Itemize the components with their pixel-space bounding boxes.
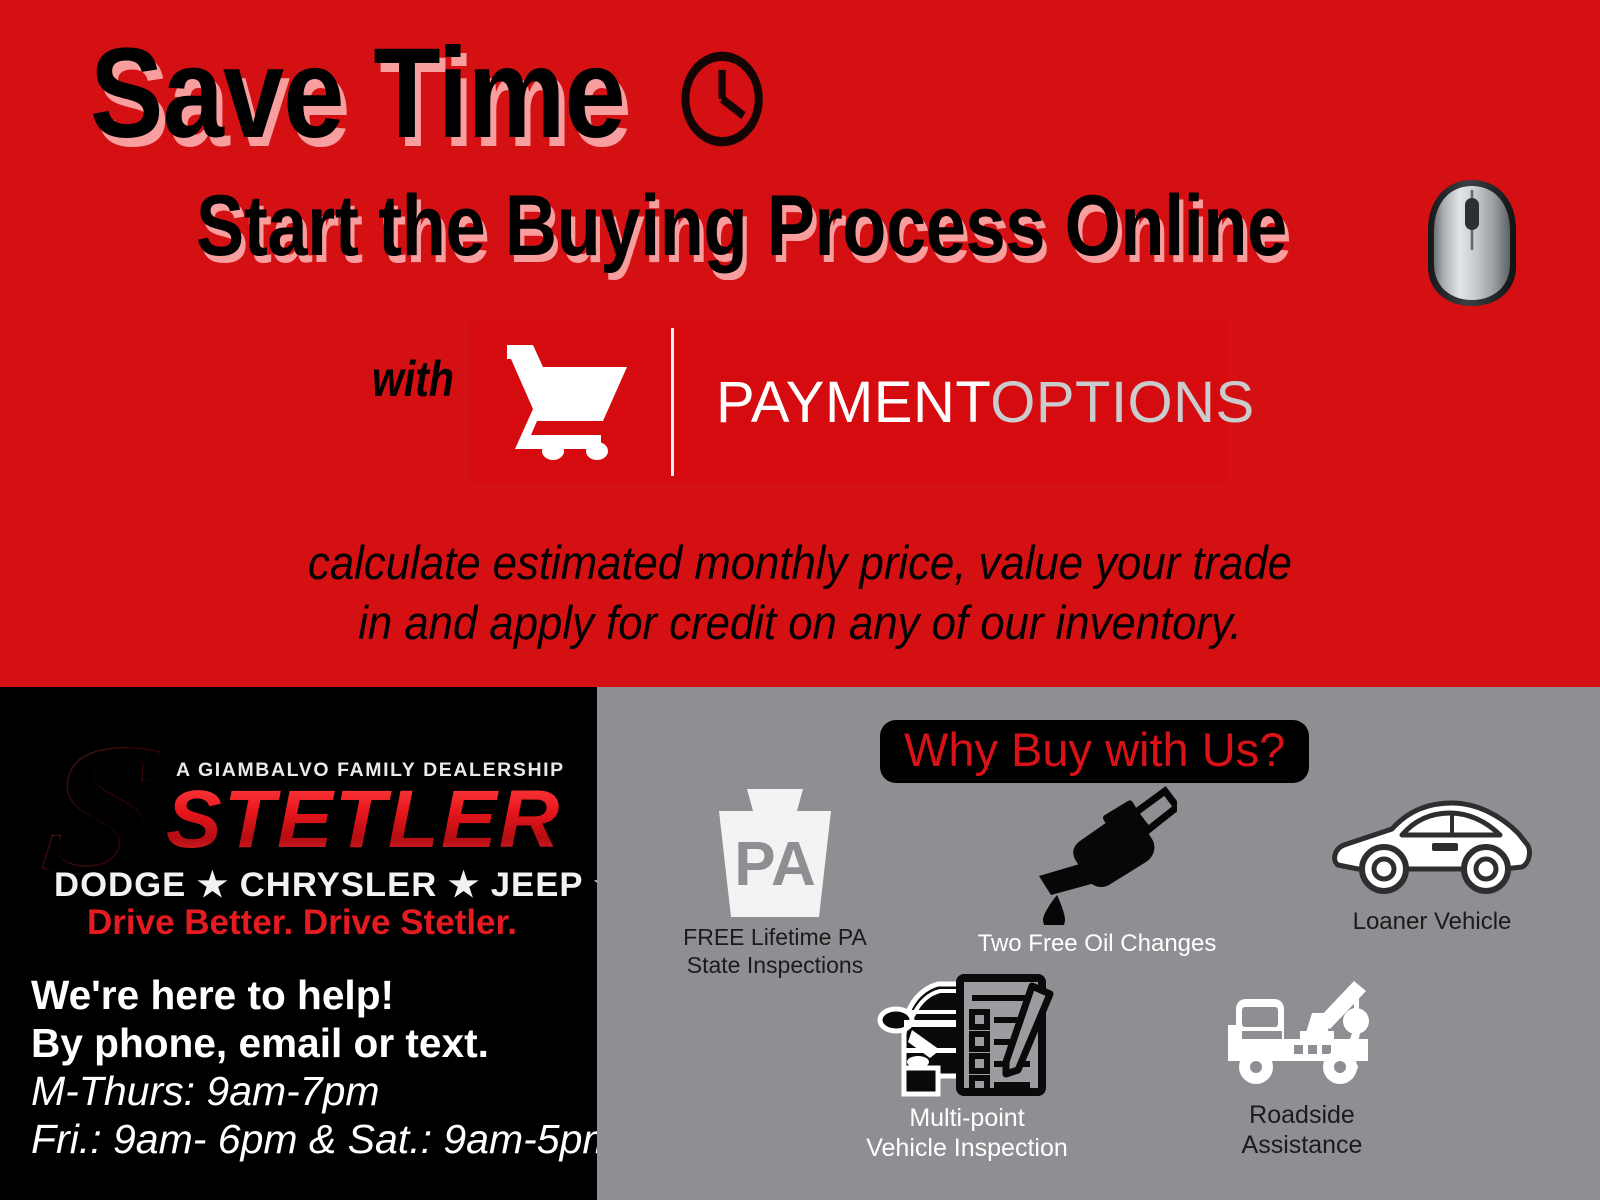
car-side-icon [1287, 787, 1577, 908]
dealership-name: STETLER [166, 779, 561, 861]
feature-label-line-1: Loaner Vehicle [1287, 908, 1577, 937]
pa-keystone-icon: PA [640, 787, 910, 924]
clipboard-car-inspection-icon [822, 972, 1112, 1103]
contact-methods-line: By phone, email or text. [31, 1020, 585, 1068]
feature-label-line-1: FREE Lifetime PA [640, 924, 910, 952]
subcopy-line-2: in and apply for credit on any of our in… [56, 593, 1544, 653]
payment-options-wordmark: PAYMENTOPTIONS [716, 369, 1255, 436]
oil-can-icon [952, 777, 1242, 930]
feature-label-line-1: Two Free Oil Changes [952, 930, 1242, 959]
hours-weekday: M-Thurs: 9am-7pm [31, 1068, 591, 1116]
feature-pa-inspections: PA FREE Lifetime PA State Inspections [640, 787, 910, 979]
advertisement-poster: Save Time Start the Buying Process Onlin… [0, 0, 1600, 1200]
svg-text:PA: PA [734, 830, 816, 899]
logo-divider [671, 328, 674, 476]
stetler-logo[interactable]: S A GIAMBALVO FAMILY DEALERSHIP STETLER … [26, 705, 566, 895]
clock-icon [677, 44, 766, 172]
payment-options-logo[interactable]: PAYMENTOPTIONS [469, 321, 1227, 483]
feature-label-line-2: Assistance [1157, 1130, 1447, 1160]
why-buy-panel: Why Buy with Us? PA FREE Lifetime PA Sta… [597, 687, 1600, 1200]
dealership-brands: DODGE ★ CHRYSLER ★ JEEP ★ RAM [54, 865, 597, 905]
shopping-cart-icon [505, 339, 633, 466]
headline-secondary: Start the Buying Process Online [196, 183, 1287, 269]
feature-label-line-1: Roadside [1157, 1100, 1447, 1130]
feature-loaner-vehicle: Loaner Vehicle [1287, 787, 1577, 937]
headline-primary-text: Save Time [90, 22, 625, 165]
hero-subcopy: calculate estimated monthly price, value… [0, 533, 1600, 653]
why-buy-heading-badge: Why Buy with Us? [880, 720, 1309, 783]
feature-roadside-assistance: Roadside Assistance [1157, 977, 1447, 1160]
contact-help-line: We're here to help! [31, 972, 585, 1020]
hours-weekend: Fri.: 9am- 6pm & Sat.: 9am-5pm [31, 1116, 591, 1164]
contact-info-block: We're here to help! By phone, email or t… [31, 972, 591, 1164]
wordmark-payment: PAYMENT [716, 370, 990, 435]
wordmark-options: OPTIONS [990, 370, 1255, 435]
with-label: with [372, 350, 454, 408]
subcopy-line-1: calculate estimated monthly price, value… [56, 533, 1544, 593]
tow-truck-icon [1157, 977, 1447, 1100]
hero-red-panel: Save Time Start the Buying Process Onlin… [0, 0, 1600, 687]
feature-label-line-1: Multi-point [822, 1103, 1112, 1133]
headline-primary: Save Time [90, 30, 766, 172]
feature-multipoint-inspection: Multi-point Vehicle Inspection [822, 972, 1112, 1163]
computer-mouse-icon [1424, 178, 1520, 313]
feature-label-line-2: Vehicle Inspection [822, 1133, 1112, 1163]
why-buy-heading: Why Buy with Us? [904, 723, 1285, 776]
feature-free-oil-changes: Two Free Oil Changes [952, 777, 1242, 959]
dealership-tagline: Drive Better. Drive Stetler. [87, 903, 517, 943]
